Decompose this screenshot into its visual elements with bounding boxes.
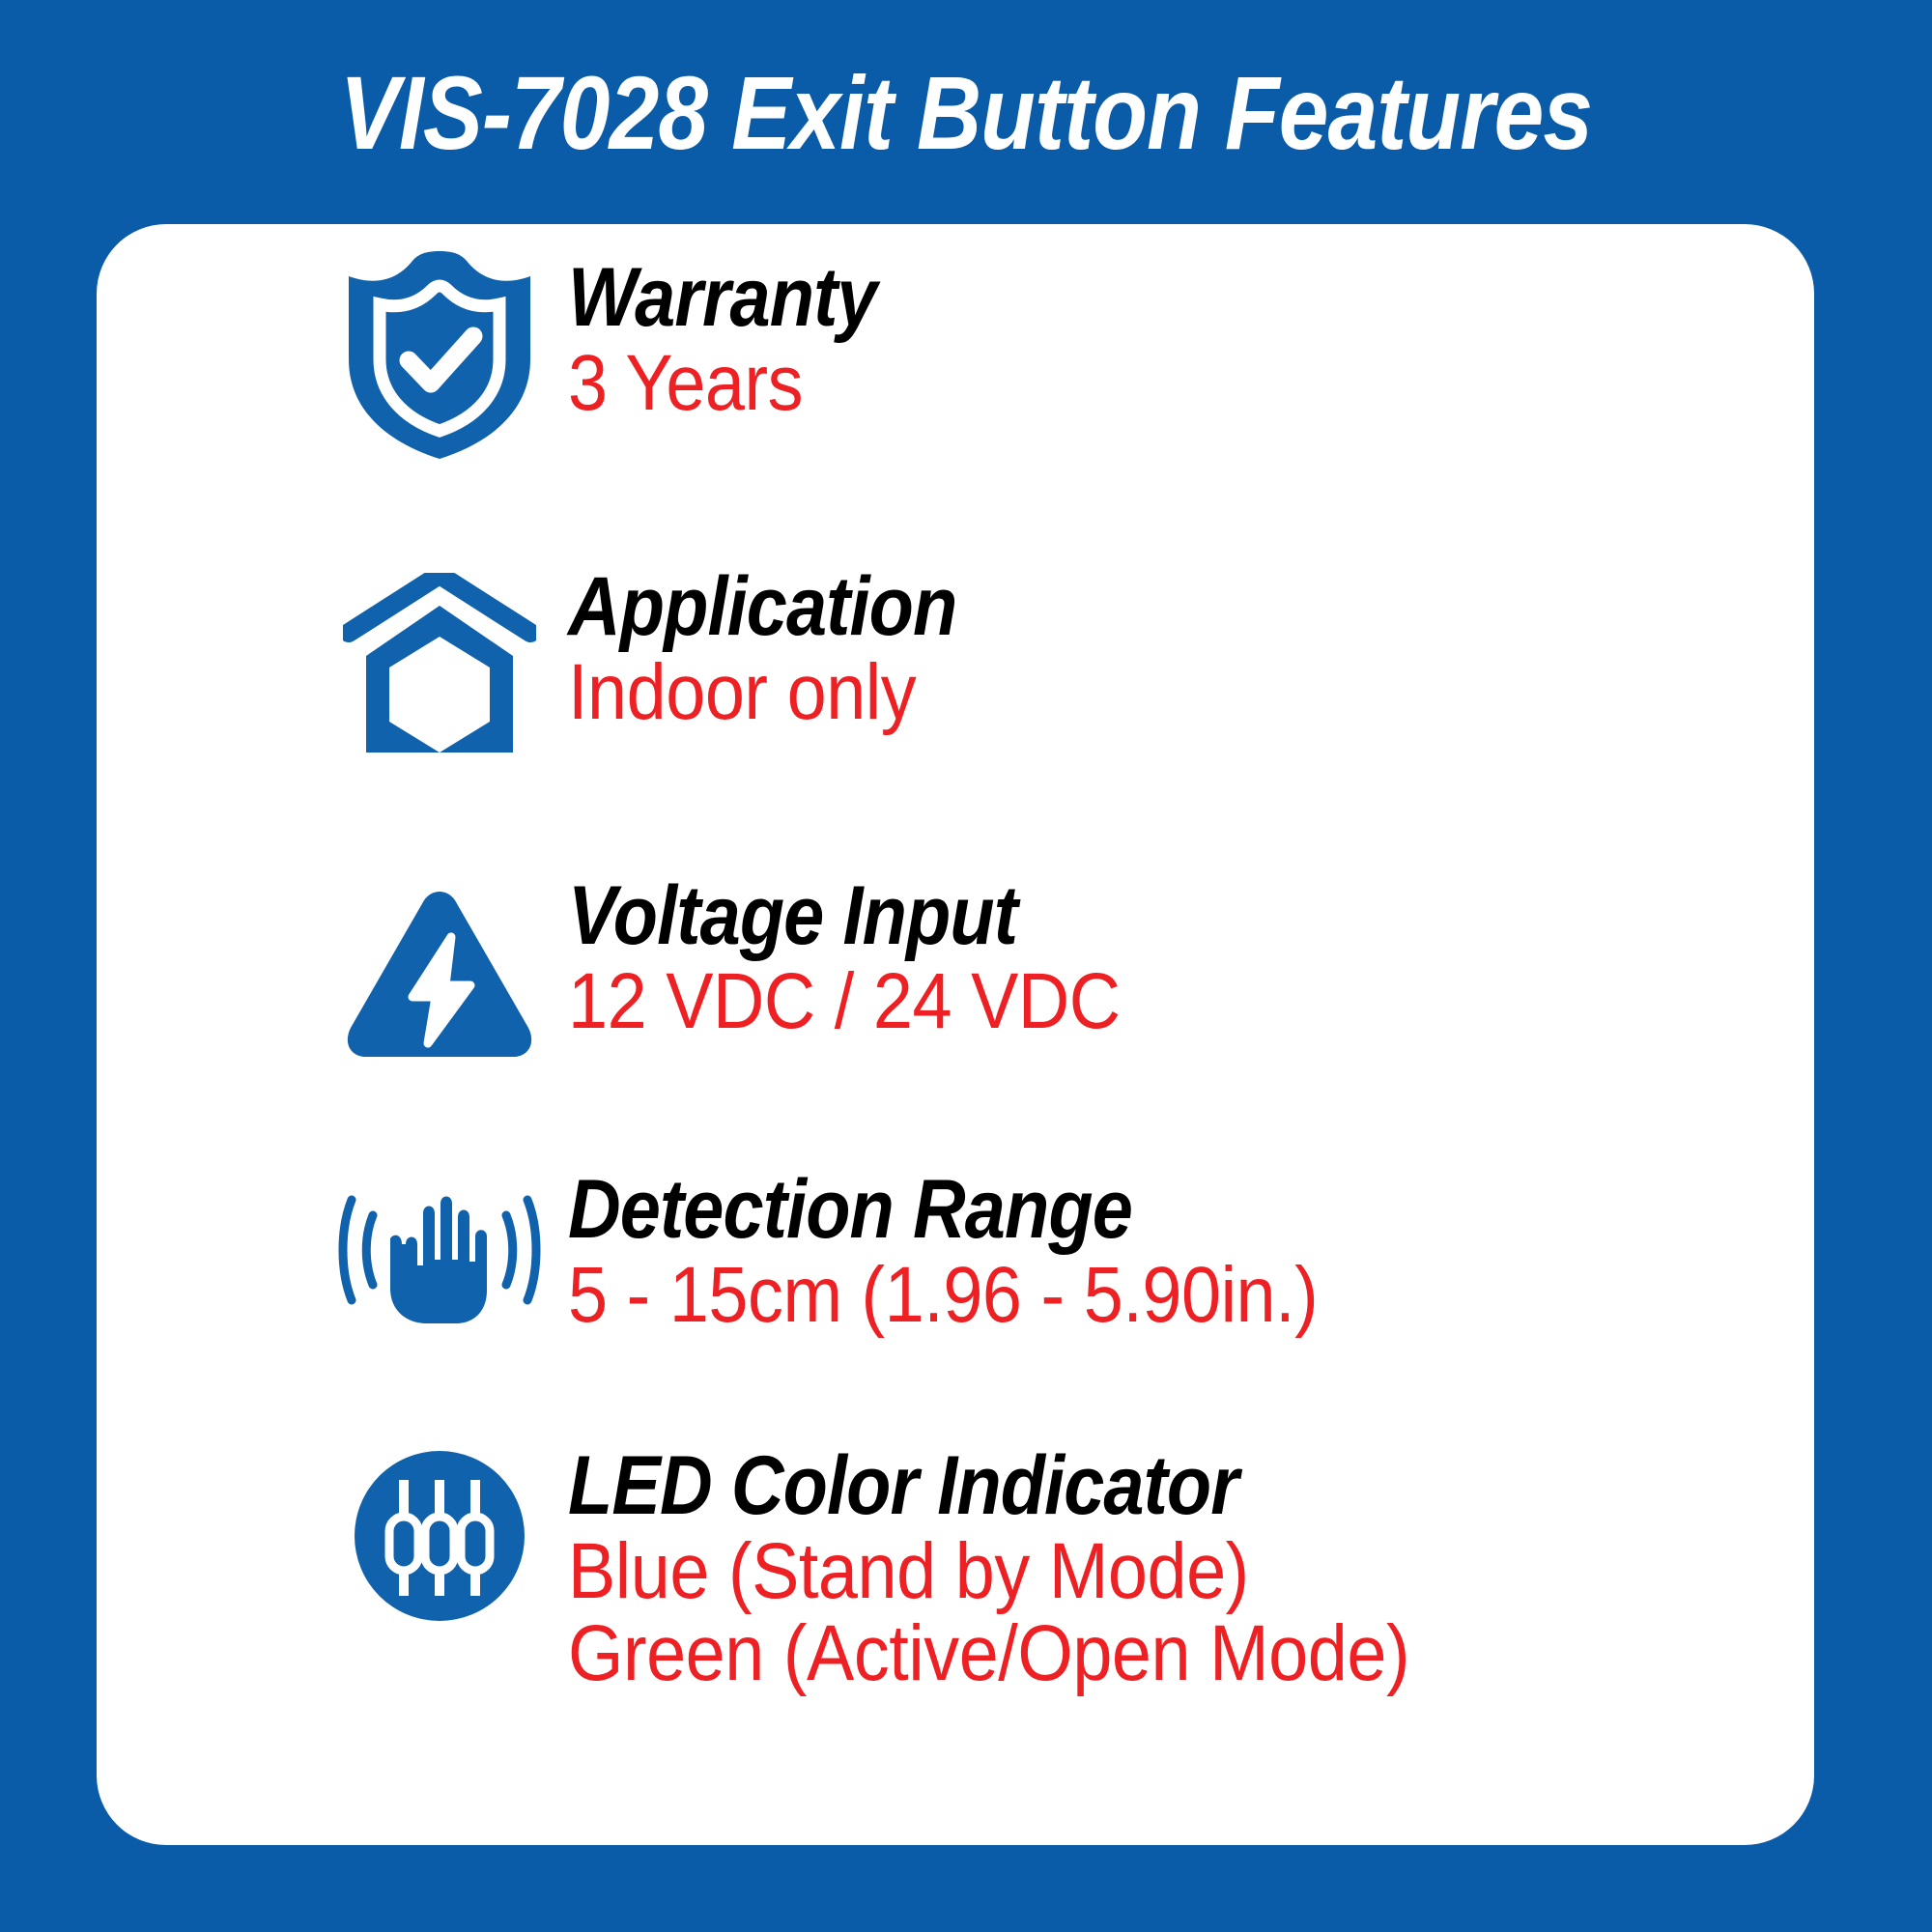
feature-value: Green (Active/Open Mode): [568, 1612, 1409, 1696]
feature-title: LED Color Indicator: [568, 1445, 1391, 1526]
lightning-triangle-icon: [338, 869, 541, 1077]
shield-check-icon: [338, 251, 541, 459]
infographic-page: VIS-7028 Exit Button Features Warranty 3…: [0, 0, 1932, 1932]
feature-text-detection: Detection Range 5 - 15cm (1.96 - 5.90in.…: [568, 1163, 1402, 1338]
feature-text-application: Application Indoor only: [568, 560, 1009, 735]
feature-row-voltage: Voltage Input 12 VDC / 24 VDC: [338, 869, 1181, 1077]
feature-title: Detection Range: [568, 1169, 1301, 1250]
feature-title: Voltage Input: [568, 875, 1108, 956]
hand-wave-sensor-icon: [338, 1163, 541, 1337]
feature-row-warranty: Warranty 3 Years: [338, 251, 919, 459]
feature-value: 5 - 15cm (1.96 - 5.90in.): [568, 1254, 1318, 1338]
feature-value: 12 VDC / 24 VDC: [568, 960, 1121, 1044]
feature-value: Blue (Stand by Mode): [568, 1530, 1409, 1614]
feature-title: Application: [568, 566, 956, 647]
feature-title: Warranty: [568, 257, 877, 338]
feature-row-application: Application Indoor only: [338, 560, 1009, 768]
features-card: Warranty 3 Years Application Indoor only: [97, 224, 1814, 1845]
page-title: VIS-7028 Exit Button Features: [135, 56, 1797, 171]
feature-text-voltage: Voltage Input 12 VDC / 24 VDC: [568, 869, 1181, 1044]
feature-value: 3 Years: [568, 342, 884, 426]
feature-row-led: LED Color Indicator Blue (Stand by Mode)…: [338, 1439, 1503, 1696]
feature-row-detection: Detection Range 5 - 15cm (1.96 - 5.90in.…: [338, 1163, 1402, 1338]
led-bulbs-circle-icon: [338, 1439, 541, 1633]
features-list: Warranty 3 Years Application Indoor only: [97, 224, 1814, 1845]
feature-text-warranty: Warranty 3 Years: [568, 251, 919, 426]
feature-text-led: LED Color Indicator Blue (Stand by Mode)…: [568, 1439, 1503, 1696]
house-hexagon-icon: [338, 560, 541, 768]
feature-value: Indoor only: [568, 651, 965, 735]
